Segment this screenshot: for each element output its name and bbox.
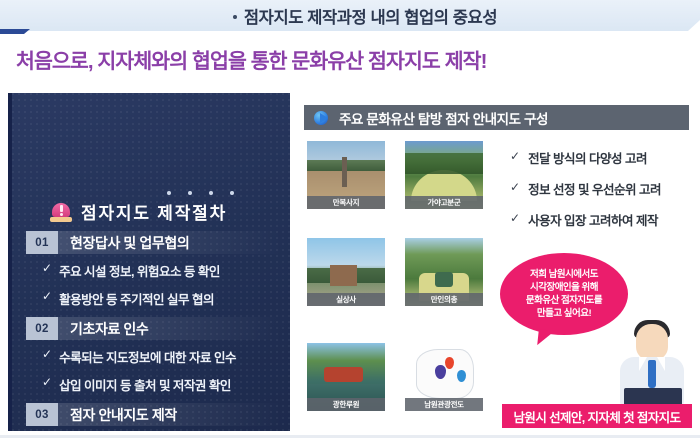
photo-manboksa-site: 만복사지 bbox=[307, 141, 385, 209]
procedure-step: 01 현장답사 및 업무협의 ✓ 주요 시설 정보, 위험요소 등 확인 ✓ 활… bbox=[12, 231, 290, 308]
four-dots-decoration bbox=[167, 191, 234, 195]
photo-silsangsa-temple: 실상사 bbox=[307, 238, 385, 306]
speech-bubble: 저희 남원시에서도 시각장애인을 위해 문화유산 점자지도를 만들고 싶어요! bbox=[500, 253, 628, 335]
siren-exclamation-bar bbox=[60, 205, 63, 212]
procedure-panel-title: 점자지도 제작절차 bbox=[81, 199, 227, 224]
speech-bubble-line: 문화유산 점자지도를 bbox=[526, 294, 602, 307]
slide-header-title-row: 점자지도 제작과정 내의 협업의 중요성 bbox=[0, 0, 700, 31]
step-number-badge: 01 bbox=[26, 231, 58, 254]
decoration-dot bbox=[209, 191, 213, 195]
subtitle-text: 처음으로, 지자체와의 협업을 통한 문화유산 점자지도 제작! bbox=[16, 44, 686, 74]
photo-gaya-tumuli: 가야고분군 bbox=[405, 141, 483, 209]
person-collar-right bbox=[657, 357, 665, 371]
procedure-steps-list: 01 현장답사 및 업무협의 ✓ 주요 시설 정보, 위험요소 등 확인 ✓ 활… bbox=[12, 231, 290, 431]
procedure-panel-title-row: 점자지도 제작절차 bbox=[50, 199, 227, 224]
siren-base bbox=[50, 217, 72, 222]
procedure-panel: 점자지도 제작절차 01 현장답사 및 업무협의 ✓ 주요 시설 정보, 위험요… bbox=[8, 93, 290, 431]
check-icon: ✓ bbox=[42, 376, 52, 388]
siren-alarm-icon bbox=[50, 201, 72, 223]
person-collar-left bbox=[639, 357, 647, 371]
person-with-laptop-illustration bbox=[608, 312, 696, 412]
speech-bubble-line: 시각장애인을 위해 bbox=[530, 281, 598, 294]
map-namwon-tourist-icon: 남원관광전도 bbox=[405, 343, 483, 411]
thumbnail-caption: 가야고분군 bbox=[405, 196, 483, 209]
step-item-list: ✓ 주요 시설 정보, 위험요소 등 확인 ✓ 활용방안 등 주기적인 실무 협… bbox=[12, 261, 290, 308]
photo-maninuichong: 만인의총 bbox=[405, 238, 483, 306]
list-item: ✓ 주요 시설 정보, 위험요소 등 확인 bbox=[42, 261, 290, 280]
speech-bubble-line: 만들고 싶어요! bbox=[537, 307, 591, 320]
thumbnail-caption: 광한루원 bbox=[307, 398, 385, 411]
step-label: 기초자료 인수 bbox=[70, 319, 148, 339]
step-number-badge: 03 bbox=[26, 403, 58, 426]
step-label: 점자 안내지도 제작 bbox=[70, 405, 177, 425]
check-icon: ✓ bbox=[510, 180, 520, 194]
highlight-banner-text: 남원시 선제안, 지자체 첫 점자지도 bbox=[514, 407, 681, 426]
person-head bbox=[636, 324, 668, 360]
check-icon: ✓ bbox=[42, 348, 52, 360]
check-icon: ✓ bbox=[510, 149, 520, 163]
photo-gwanghalluwon: 광한루원 bbox=[307, 343, 385, 411]
decoration-dot bbox=[167, 191, 171, 195]
composition-bullet-list: ✓ 전달 방식의 다양성 고려 ✓ 정보 선정 및 우선순위 고려 ✓ 사용자 … bbox=[510, 148, 661, 241]
highlight-banner: 남원시 선제안, 지자체 첫 점자지도 bbox=[502, 404, 692, 428]
step-label: 현장답사 및 업무협의 bbox=[70, 233, 189, 253]
check-icon: ✓ bbox=[510, 211, 520, 225]
decoration-dot bbox=[230, 191, 234, 195]
list-item: ✓ 정보 선정 및 우선순위 고려 bbox=[510, 179, 661, 198]
step-number-badge: 02 bbox=[26, 317, 58, 340]
procedure-step-header: 02 기초자료 인수 bbox=[26, 317, 282, 340]
play-triangle bbox=[320, 113, 328, 123]
thumbnail-caption: 만인의총 bbox=[405, 293, 483, 306]
thumbnail-caption: 만복사지 bbox=[307, 196, 385, 209]
play-arrow-icon bbox=[314, 110, 330, 126]
thumbnail-caption: 실상사 bbox=[307, 293, 385, 306]
procedure-step: 02 기초자료 인수 ✓ 수록되는 지도정보에 대한 자료 인수 ✓ 삽입 이미… bbox=[12, 317, 290, 394]
composition-bullet-text: 정보 선정 및 우선순위 고려 bbox=[528, 179, 661, 198]
speech-bubble-line: 저희 남원시에서도 bbox=[530, 268, 598, 281]
procedure-step: 03 점자 안내지도 제작 ✓ 점묵자 혼용방식으로 제작 ✓ 사용자평가 및 … bbox=[12, 403, 290, 431]
procedure-step-header: 01 현장답사 및 업무협의 bbox=[26, 231, 282, 254]
header-accent-tab bbox=[0, 29, 30, 34]
list-item: ✓ 수록되는 지도정보에 대한 자료 인수 bbox=[42, 347, 290, 366]
step-item-text: 삽입 이미지 등 출처 및 저작권 확인 bbox=[59, 375, 231, 394]
list-item: ✓ 전달 방식의 다양성 고려 bbox=[510, 148, 661, 167]
page-title: 점자지도 제작과정 내의 협업의 중요성 bbox=[244, 4, 497, 28]
map-composition-title: 주요 문화유산 탐방 점자 안내지도 구성 bbox=[339, 108, 548, 128]
decoration-dot bbox=[188, 191, 192, 195]
list-item: ✓ 사용자 입장 고려하여 제작 bbox=[510, 210, 661, 229]
procedure-step-header: 03 점자 안내지도 제작 bbox=[26, 403, 282, 426]
check-icon: ✓ bbox=[42, 290, 52, 302]
speech-bubble-tail bbox=[537, 329, 555, 347]
list-item: ✓ 활용방안 등 주기적인 실무 협의 bbox=[42, 289, 290, 308]
list-item: ✓ 삽입 이미지 등 출처 및 저작권 확인 bbox=[42, 375, 290, 394]
check-icon: ✓ bbox=[42, 262, 52, 274]
siren-exclamation-dot bbox=[60, 213, 63, 216]
composition-bullet-text: 사용자 입장 고려하여 제작 bbox=[528, 210, 658, 229]
step-item-list: ✓ 수록되는 지도정보에 대한 자료 인수 ✓ 삽입 이미지 등 출처 및 저작… bbox=[12, 347, 290, 394]
step-item-text: 활용방안 등 주기적인 실무 협의 bbox=[59, 289, 214, 308]
bullet-dot-icon bbox=[233, 15, 237, 19]
step-item-text: 수록되는 지도정보에 대한 자료 인수 bbox=[59, 347, 236, 366]
person-necktie bbox=[648, 360, 656, 388]
map-composition-header: 주요 문화유산 탐방 점자 안내지도 구성 bbox=[304, 105, 689, 130]
composition-bullet-text: 전달 방식의 다양성 고려 bbox=[528, 148, 647, 167]
thumbnail-caption: 남원관광전도 bbox=[405, 398, 483, 411]
step-item-text: 주요 시설 정보, 위험요소 등 확인 bbox=[59, 261, 220, 280]
